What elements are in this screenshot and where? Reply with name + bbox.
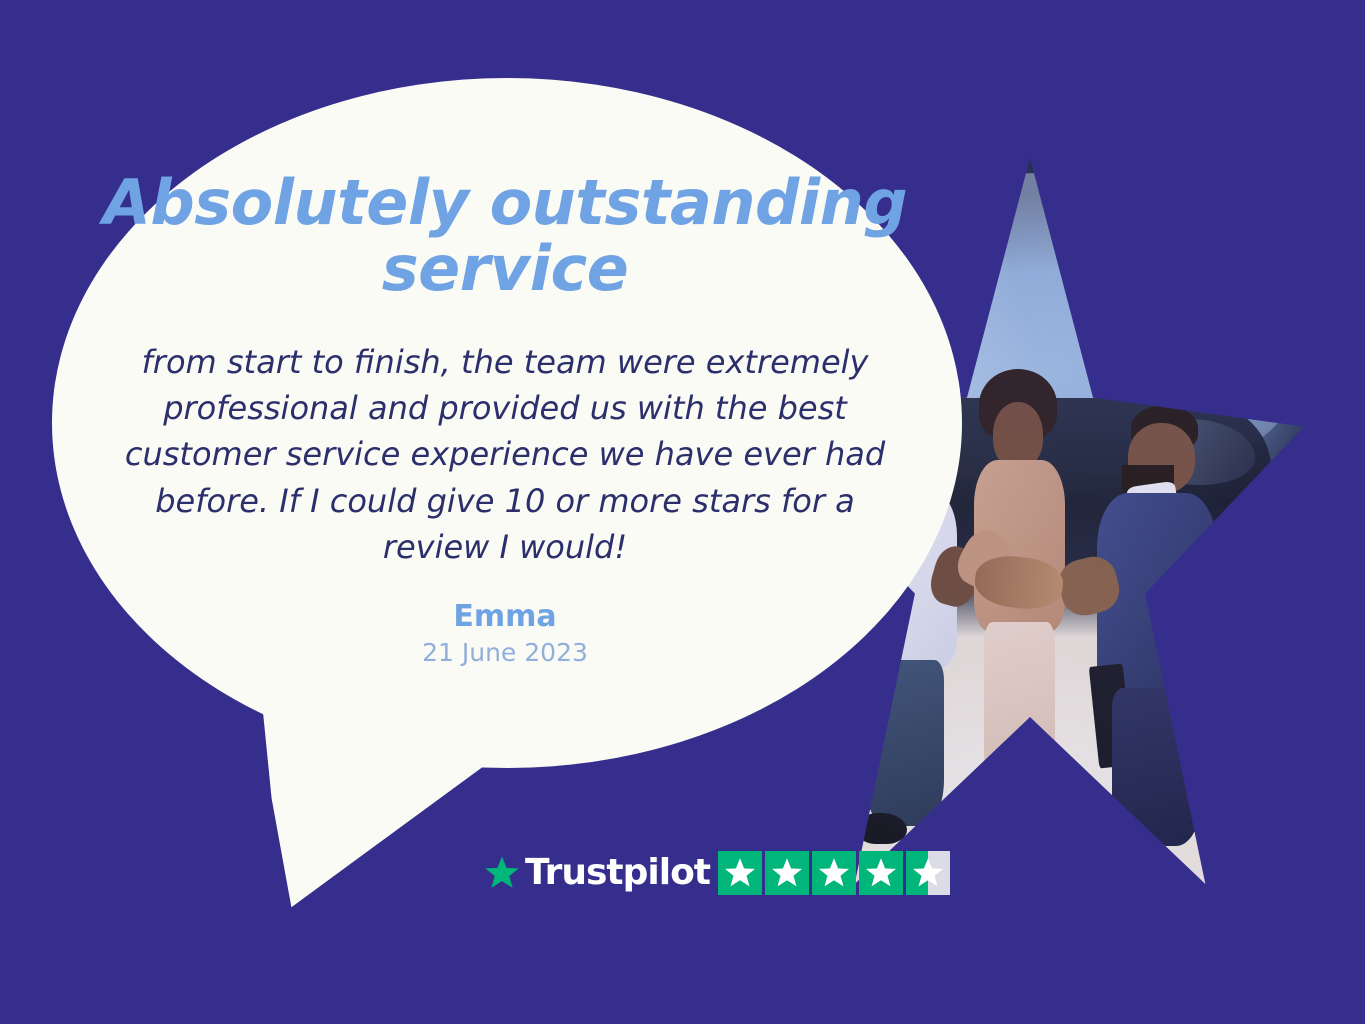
trustpilot-star-5-half[interactable] xyxy=(906,851,950,895)
trustpilot-star-3[interactable] xyxy=(812,851,856,895)
review-date: 21 June 2023 xyxy=(70,638,940,667)
review-body: from start to finish, the team were extr… xyxy=(110,339,900,571)
trustpilot-wordmark: Trustpilot xyxy=(525,855,710,891)
shoe xyxy=(859,813,906,845)
trustpilot-star-4[interactable] xyxy=(859,851,903,895)
trustpilot-star-icon xyxy=(483,854,521,892)
review-card: Absolutely outstanding service from star… xyxy=(0,0,1365,1024)
person-salesman xyxy=(1085,405,1238,870)
trustpilot-star-row[interactable] xyxy=(718,851,950,895)
legs xyxy=(984,622,1055,799)
trustpilot-logo[interactable]: Trustpilot xyxy=(483,854,710,892)
review-headline: Absolutely outstanding service xyxy=(70,170,940,303)
trustpilot-star-1[interactable] xyxy=(718,851,762,895)
review-author: Emma xyxy=(70,599,940,634)
trustpilot-star-2[interactable] xyxy=(765,851,809,895)
shoe xyxy=(1022,800,1055,838)
shoe xyxy=(986,790,1016,828)
legs xyxy=(1112,688,1201,846)
legs xyxy=(865,660,944,827)
trustpilot-rating[interactable]: Trustpilot xyxy=(483,846,950,900)
review-content: Absolutely outstanding service from star… xyxy=(70,170,940,667)
